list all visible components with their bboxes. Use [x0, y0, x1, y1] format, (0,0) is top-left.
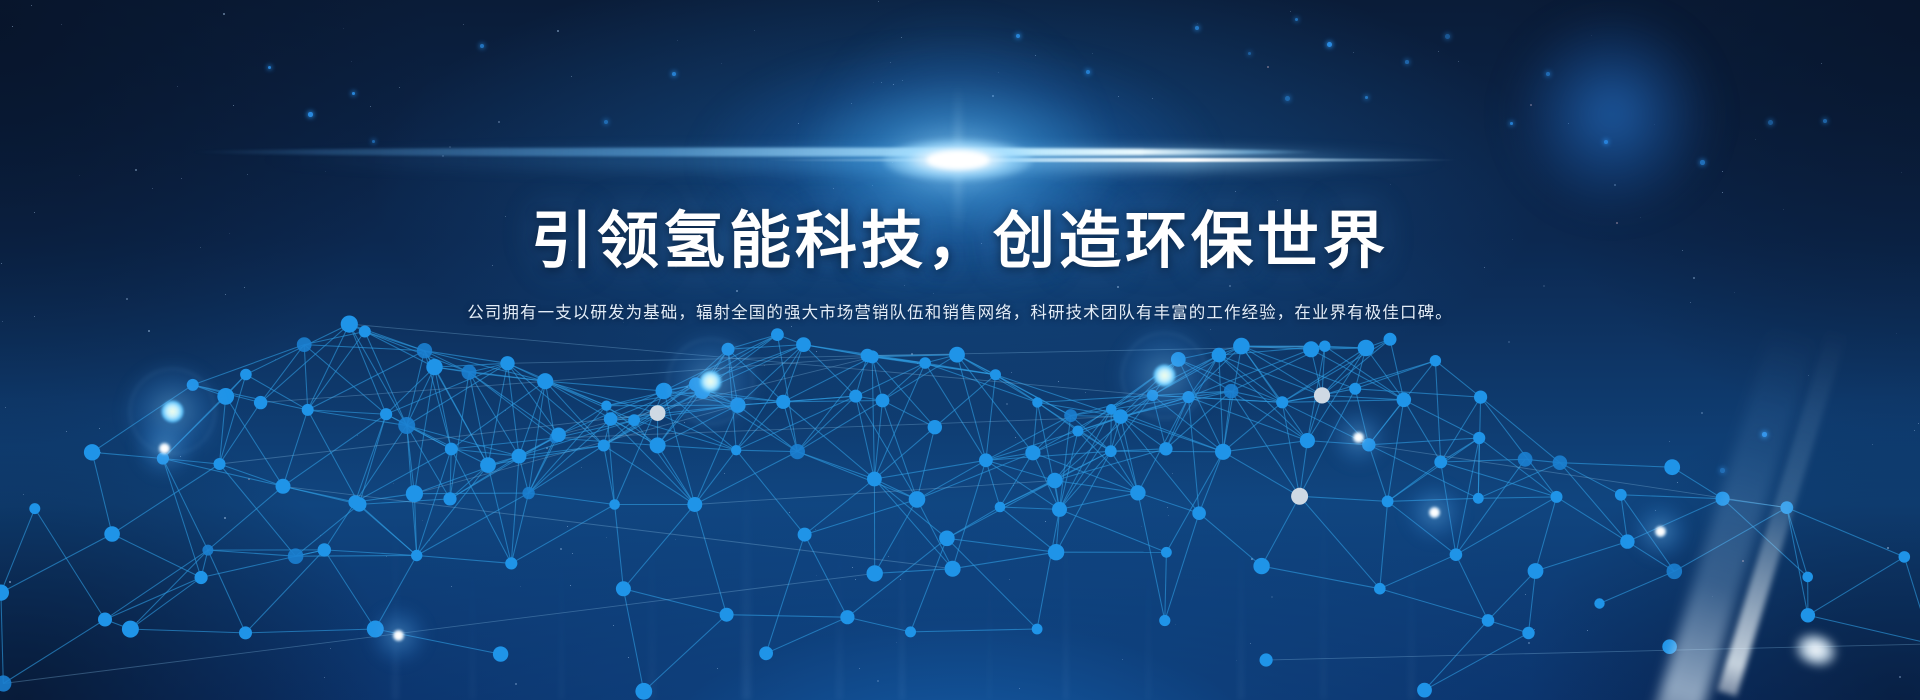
mesh-node [1215, 444, 1231, 460]
mesh-node [840, 610, 854, 624]
mesh-line [193, 385, 308, 410]
mesh-node [628, 414, 640, 426]
mesh-node [939, 531, 955, 547]
mesh-line [615, 505, 624, 589]
mesh-line [246, 629, 376, 633]
mesh-node [417, 343, 432, 358]
mesh-line [604, 446, 615, 505]
mesh-line [511, 505, 614, 564]
mesh-line [1456, 459, 1525, 554]
mesh-node [1664, 459, 1680, 475]
mesh-node [866, 350, 879, 363]
mesh-line [623, 589, 726, 615]
mesh-node [0, 675, 11, 691]
mesh-line [1488, 620, 1529, 633]
mesh-line [1219, 355, 1223, 452]
mesh-line [1037, 395, 1152, 402]
mesh-line [324, 502, 355, 550]
mesh-line [1529, 571, 1536, 633]
mesh-line [1300, 496, 1388, 501]
mesh-node [598, 440, 610, 452]
mesh-node [776, 395, 790, 409]
mesh-line [805, 535, 848, 618]
mesh-line [246, 550, 325, 633]
mesh-line [220, 403, 261, 464]
mesh-line [1478, 497, 1556, 498]
mesh-node [512, 449, 527, 464]
mesh-node [217, 388, 234, 405]
mesh-line [847, 617, 910, 632]
mesh-node [771, 328, 784, 341]
mesh-node [1801, 608, 1815, 622]
mesh-line [1138, 493, 1199, 513]
mesh-line [1388, 400, 1404, 502]
mesh-line [1223, 391, 1231, 452]
mesh-line [1481, 397, 1560, 463]
mesh-line [695, 452, 798, 505]
mesh-line [1369, 400, 1404, 445]
mesh-line [1121, 417, 1200, 514]
mesh-line [736, 450, 804, 534]
mesh-line [623, 505, 694, 589]
mesh-line [1380, 501, 1388, 588]
mesh-line [917, 453, 1033, 500]
mesh-node [1260, 653, 1273, 666]
mesh-node [104, 526, 120, 542]
mesh-node [1522, 627, 1534, 639]
mesh-node [214, 458, 226, 470]
mesh-line [407, 426, 519, 457]
mesh-line [163, 459, 220, 465]
mesh-line [1000, 507, 1056, 552]
mesh-node [493, 646, 508, 661]
mesh-node [1159, 615, 1170, 626]
mesh-line [1262, 566, 1380, 589]
mesh-line [1121, 391, 1232, 416]
mesh-node [1182, 391, 1194, 403]
mesh-line [1481, 397, 1557, 497]
mesh-node [1551, 491, 1563, 503]
mesh-line [953, 552, 1057, 569]
mesh-node [1161, 547, 1172, 558]
mesh-line [1536, 542, 1628, 571]
mesh-node [790, 444, 805, 459]
mesh-node [480, 457, 496, 473]
mesh-line [375, 556, 416, 630]
mesh-node [288, 548, 304, 564]
mesh-line [1441, 462, 1456, 555]
mesh-node [1113, 409, 1128, 424]
mesh-line [1369, 445, 1388, 502]
mesh-node [656, 383, 673, 400]
mesh-line [1199, 513, 1262, 566]
mesh-node [1662, 639, 1677, 654]
mesh-node [849, 390, 862, 403]
mesh-line [1808, 557, 1904, 615]
mesh-line [451, 438, 555, 449]
mesh-node [157, 452, 169, 464]
mesh-line [208, 550, 246, 633]
mesh-node [909, 491, 926, 508]
mesh-node [1594, 598, 1604, 608]
mesh-line [1425, 633, 1529, 690]
mesh-node [867, 565, 883, 581]
mesh-node [1362, 438, 1375, 451]
mesh-node [1159, 442, 1172, 455]
mesh-node [905, 626, 916, 637]
mesh-line [1231, 391, 1300, 496]
mesh-node [876, 394, 890, 408]
mesh-line [1307, 441, 1368, 445]
mesh-line [355, 414, 386, 502]
mesh-node [759, 646, 773, 660]
mesh-node [1780, 501, 1793, 514]
mesh-line [1223, 402, 1282, 452]
mesh-line [1223, 441, 1307, 452]
mesh-node [731, 445, 741, 455]
mesh-line [1189, 397, 1200, 513]
mesh-node [0, 585, 9, 601]
mesh-line [1380, 555, 1456, 589]
mesh-node [1802, 572, 1813, 583]
mesh-line [872, 357, 874, 479]
mesh-line [92, 452, 112, 534]
mesh-node [1147, 390, 1158, 401]
mesh-line [1560, 463, 1628, 542]
mesh-node [352, 497, 367, 512]
mesh-node [687, 497, 702, 512]
mesh-line [246, 324, 349, 374]
mesh-node [1253, 558, 1269, 574]
mesh-line [1, 593, 3, 684]
mesh-node [380, 408, 392, 420]
mesh-line [308, 324, 350, 410]
mesh-node [187, 379, 199, 391]
mesh-line [308, 351, 425, 410]
mesh-line [349, 324, 1152, 395]
mesh-line [1138, 493, 1165, 621]
mesh-line [529, 493, 615, 504]
mesh-line [856, 363, 925, 396]
mesh-line [304, 345, 386, 415]
mesh-line [911, 629, 1038, 632]
mesh-line [1231, 391, 1307, 440]
mesh-line [1674, 508, 1787, 572]
mesh-node [949, 347, 965, 363]
mesh-node [537, 373, 553, 389]
mesh-node [1528, 563, 1544, 579]
mesh-line [986, 375, 996, 461]
mesh-node [1474, 391, 1487, 404]
mesh-node [1105, 445, 1117, 457]
mesh-line [695, 505, 727, 615]
mesh-line [163, 396, 226, 458]
mesh-node [426, 359, 442, 375]
mesh-line [996, 375, 1071, 416]
mesh-node [359, 326, 371, 338]
network-mesh-graphic [0, 0, 1920, 700]
mesh-node [730, 398, 745, 413]
mesh-line [1787, 508, 1808, 616]
mesh-node [1276, 396, 1288, 408]
mesh-line [261, 324, 350, 403]
mesh-line [261, 345, 305, 403]
mesh-node [867, 472, 882, 487]
mesh-node [98, 613, 112, 627]
mesh-node [1358, 340, 1375, 357]
mesh-line [1478, 438, 1479, 498]
mesh-node [1130, 485, 1145, 500]
mesh-node [1430, 355, 1441, 366]
mesh-line [1627, 542, 1674, 572]
mesh-line [644, 615, 727, 692]
mesh-line [1300, 496, 1380, 588]
mesh-line [1388, 498, 1479, 501]
mesh-line [1033, 416, 1071, 453]
mesh-node [1716, 492, 1730, 506]
mesh-node [1667, 564, 1683, 580]
mesh-node [722, 343, 735, 356]
mesh-line [766, 535, 805, 654]
mesh-node [406, 485, 423, 502]
mesh-line [1165, 513, 1199, 620]
mesh-node [1349, 383, 1361, 395]
mesh-node [990, 369, 1001, 380]
mesh-node [1434, 456, 1447, 469]
mesh-node [202, 545, 213, 556]
mesh-line [355, 426, 407, 503]
mesh-line [1, 509, 35, 593]
banner-headline: 引领氢能科技，创造环保世界 [531, 205, 1389, 278]
mesh-node [500, 356, 514, 370]
mesh-node [302, 404, 314, 416]
mesh-node [1291, 488, 1308, 505]
mesh-line [664, 391, 783, 402]
mesh-node [367, 621, 384, 638]
mesh-node [796, 337, 811, 352]
mesh-node [694, 383, 710, 399]
mesh-node [1032, 624, 1043, 635]
mesh-node [650, 405, 666, 421]
mesh-line [1189, 349, 1312, 397]
mesh-node [122, 621, 139, 638]
mesh-node [1417, 683, 1432, 698]
mesh-node [1374, 583, 1386, 595]
mesh-line [3, 620, 105, 684]
mesh-node [1192, 506, 1206, 520]
mesh-node [1899, 551, 1911, 563]
mesh-node [551, 428, 566, 443]
mesh-node [601, 401, 611, 411]
mesh-node [276, 479, 291, 494]
mesh-line [883, 363, 926, 401]
mesh-line [611, 419, 695, 505]
mesh-node [609, 499, 620, 510]
mesh-line [1456, 497, 1557, 555]
mesh-node [505, 557, 517, 569]
mesh-node [29, 503, 40, 514]
mesh-line [130, 629, 245, 633]
mesh-line [359, 504, 417, 555]
mesh-node [1450, 548, 1463, 561]
mesh-line [163, 459, 201, 578]
mesh-line [283, 486, 953, 568]
mesh-line [1165, 552, 1167, 620]
mesh-line [414, 493, 528, 494]
mesh-line [105, 550, 208, 619]
mesh-line [324, 550, 416, 556]
mesh-line [1488, 571, 1536, 620]
mesh-node [195, 571, 208, 584]
mesh-node [798, 528, 812, 542]
mesh-node [604, 412, 618, 426]
mesh-line [488, 446, 604, 466]
mesh-line [1557, 497, 1628, 542]
mesh-node [1048, 544, 1064, 560]
mesh-node [462, 365, 477, 380]
mesh-line [996, 375, 1038, 403]
mesh-node [239, 626, 252, 639]
mesh-node [398, 417, 415, 434]
mesh-line [1441, 397, 1481, 462]
mesh-node [928, 420, 942, 434]
mesh-node [919, 357, 931, 369]
mesh-line [736, 450, 797, 451]
mesh-node [1224, 384, 1239, 399]
mesh-line [1355, 389, 1480, 397]
mesh-line [738, 405, 798, 451]
mesh-node [341, 316, 358, 333]
mesh-line [797, 396, 855, 452]
mesh-node [1319, 341, 1330, 352]
mesh-line [805, 479, 875, 535]
mesh-line [92, 452, 163, 458]
mesh-line [1388, 501, 1456, 554]
mesh-line [296, 556, 417, 557]
mesh-node [240, 369, 252, 381]
mesh-line [375, 629, 500, 654]
mesh-line [1560, 463, 1672, 468]
mesh-node [1300, 433, 1315, 448]
mesh-node [616, 581, 631, 596]
mesh-line [1723, 499, 1808, 577]
mesh-node [297, 337, 312, 352]
mesh-line [1627, 499, 1722, 542]
mesh-line [386, 367, 434, 414]
mesh-node [1314, 387, 1330, 403]
mesh-node [1518, 452, 1533, 467]
mesh-line [407, 351, 425, 426]
mesh-line [1380, 589, 1488, 621]
mesh-node [650, 437, 666, 453]
mesh-node [720, 608, 734, 622]
mesh-node [1171, 352, 1186, 367]
mesh-line [1166, 397, 1189, 449]
mesh-line [1560, 463, 1621, 495]
mesh-line [1223, 452, 1300, 497]
mesh-line [1000, 507, 1060, 509]
mesh-node [1620, 534, 1634, 548]
mesh-line [283, 486, 359, 504]
mesh-line [163, 459, 208, 551]
mesh-node [1303, 341, 1319, 357]
mesh-node [254, 396, 267, 409]
mesh-line [1787, 508, 1905, 557]
mesh-line [1322, 395, 1369, 444]
mesh-line [35, 509, 105, 620]
mesh-line [1262, 496, 1300, 566]
mesh-node [318, 543, 331, 556]
mesh-line [658, 445, 695, 504]
mesh-node [1397, 393, 1412, 408]
mesh-node [1032, 397, 1042, 407]
mesh-line [695, 405, 738, 504]
mesh-node [1052, 502, 1067, 517]
mesh-line [324, 550, 375, 629]
mesh-line [766, 617, 847, 653]
mesh-node [1482, 614, 1495, 627]
mesh-line [947, 538, 1037, 629]
mesh-node [443, 492, 456, 505]
mesh-node [979, 453, 993, 467]
mesh-line [875, 569, 953, 574]
mesh-line [417, 556, 512, 564]
mesh-line [1536, 497, 1557, 571]
mesh-line [1055, 481, 1138, 493]
mesh-node [995, 502, 1006, 513]
mesh-line [1441, 462, 1557, 497]
mesh-node [1382, 496, 1394, 508]
mesh-line [1189, 397, 1308, 441]
mesh-node [1047, 473, 1062, 488]
mesh-node [1233, 338, 1250, 355]
mesh-line [874, 363, 925, 479]
mesh-line [1904, 557, 1920, 644]
mesh-line [1078, 431, 1138, 493]
mesh-node [1473, 493, 1484, 504]
mesh-node [411, 550, 422, 561]
mesh-line [1787, 508, 1808, 577]
mesh-line [92, 385, 193, 452]
mesh-line [304, 345, 308, 410]
mesh-node [522, 487, 534, 499]
mesh-node [1473, 432, 1485, 444]
mesh-line [1037, 509, 1059, 629]
mesh-node [84, 444, 100, 460]
mesh-line [1388, 462, 1441, 501]
mesh-line [947, 538, 1056, 552]
mesh-line [727, 615, 848, 618]
mesh-line [1199, 452, 1223, 513]
mesh-line [112, 464, 219, 534]
mesh-node [1384, 333, 1397, 346]
mesh-node [1553, 455, 1568, 470]
banner-subline: 公司拥有一支以研发为基础，辐射全国的强大市场营销队伍和销售网络，科研技术团队有丰… [467, 300, 1453, 326]
mesh-node [945, 561, 961, 577]
mesh-line [304, 332, 365, 345]
mesh-line [695, 450, 736, 504]
mesh-node [445, 443, 458, 456]
mesh-line [1060, 509, 1167, 552]
mesh-line [1282, 400, 1404, 403]
mesh-node [1025, 445, 1040, 460]
mesh-node [1212, 348, 1227, 363]
hero-banner: 引领氢能科技，创造环保世界 公司拥有一支以研发为基础，辐射全国的强大市场营销队伍… [0, 0, 1920, 700]
mesh-node [1615, 489, 1627, 501]
mesh-line [208, 550, 296, 556]
mesh-line [283, 410, 308, 486]
mesh-line [1369, 438, 1479, 445]
